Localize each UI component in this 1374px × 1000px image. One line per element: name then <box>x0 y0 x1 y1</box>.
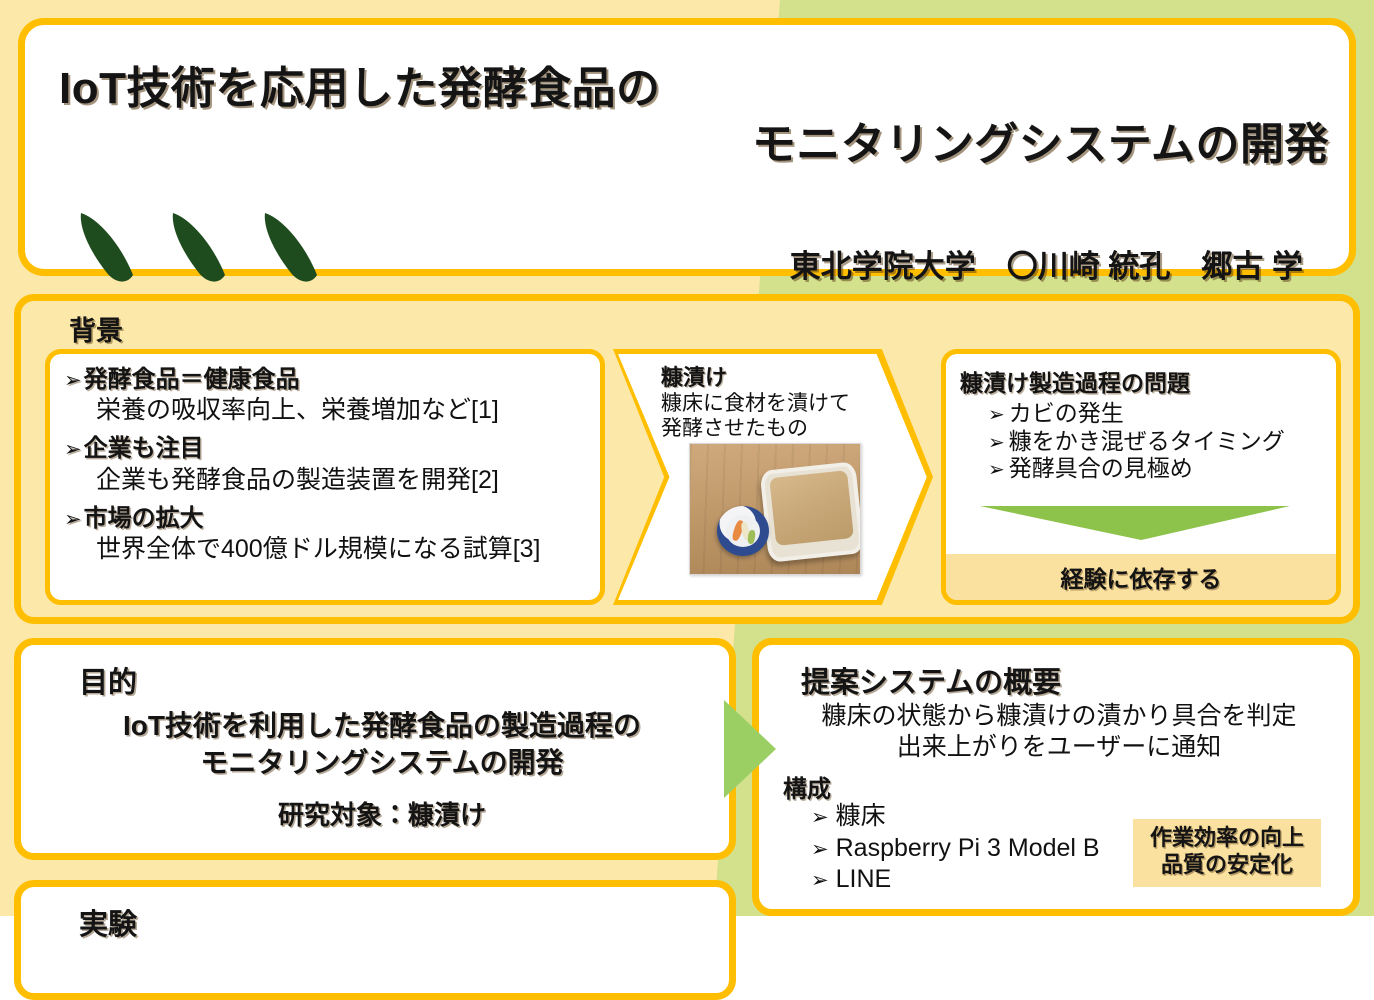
system-overview-section: 提案システムの概要 糠床の状態から糠漬けの漬かり具合を判定 出来上がりをユーザー… <box>752 638 1360 916</box>
chevron-right-icon: ➢ <box>64 438 82 461</box>
effects-badge: 作業効率の向上 品質の安定化 <box>1133 819 1321 887</box>
composition-item-text: LINE <box>836 865 892 893</box>
experiment-label: 実験 <box>79 901 137 943</box>
page-title: IoT技術を応用した発酵食品の モニタリングシステムの開発 <box>59 61 1329 174</box>
chevron-right-icon: ➢ <box>988 404 1005 426</box>
aim-line1: IoT技術を利用した発酵食品の製造過程の <box>39 707 725 744</box>
problem-item-text: 糠をかき混ぜるタイミング <box>1009 428 1285 454</box>
problems-box: 糠漬け製造過程の問題 ➢カビの発生 ➢糠をかき混ぜるタイミング ➢発酵具合の見極… <box>941 349 1341 605</box>
chevron-right-icon: ➢ <box>64 508 82 531</box>
problem-item: ➢発酵具合の見極め <box>988 455 1336 483</box>
bullet-sub: 世界全体で400億ドル規模になる試算[3] <box>64 534 586 564</box>
authors-line: 東北学院大学 〇川崎 統孔 郷古 学 <box>790 241 1303 286</box>
page-title-line1: IoT技術を応用した発酵食品の <box>59 61 1329 117</box>
bullet-head-text: 市場の拡大 <box>84 505 204 532</box>
title-card: IoT技術を応用した発酵食品の モニタリングシステムの開発 東北学院大学 〇川崎… <box>18 18 1356 276</box>
problems-conclusion-band: 経験に依存する <box>946 554 1336 600</box>
system-desc-line2: 出来上がりをユーザーに通知 <box>779 732 1339 763</box>
photo-pickle-dish <box>717 506 769 556</box>
background-bullet-item: ➢市場の拡大 世界全体で400億ドル規模になる試算[3] <box>64 505 586 564</box>
bullet-sub: 企業も発酵食品の製造装置を開発[2] <box>64 465 586 495</box>
aim-section: 目的 IoT技術を利用した発酵食品の製造過程の モニタリングシステムの開発 研究… <box>14 638 736 860</box>
composition-item: ➢糠床 <box>811 801 1100 833</box>
arrow-down-icon <box>980 506 1290 540</box>
composition-item: ➢Raspberry Pi 3 Model B <box>811 833 1100 865</box>
background-bullet-item: ➢企業も注目 企業も発酵食品の製造装置を開発[2] <box>64 435 586 494</box>
composition-label: 構成 <box>783 769 831 804</box>
composition-list: ➢糠床 ➢Raspberry Pi 3 Model B ➢LINE <box>811 801 1100 896</box>
composition-item-text: 糠床 <box>836 802 886 830</box>
effect-line1: 作業効率の向上 <box>1137 825 1317 852</box>
aim-line2: モニタリングシステムの開発 <box>39 744 725 781</box>
system-overview-title: 提案システムの概要 <box>801 659 1061 701</box>
chevron-content: 糠漬け 糠床に食材を漬けて 発酵させたもの <box>661 365 891 442</box>
problem-item-text: カビの発生 <box>1009 400 1124 426</box>
background-section: 背景 ➢発酵食品＝健康食品 栄養の吸収率向上、栄養増加など[1] ➢企業も注目 … <box>14 294 1360 624</box>
bullet-head: ➢発酵食品＝健康食品 <box>64 366 586 394</box>
photo-rice-bran <box>769 470 854 546</box>
nukazuke-desc-line1: 糠床に食材を漬けて <box>661 391 891 416</box>
nukazuke-desc-line2: 発酵させたもの <box>661 416 891 441</box>
problem-item: ➢カビの発生 <box>988 400 1336 428</box>
background-section-heading: 背景 <box>69 309 123 348</box>
composition-item: ➢LINE <box>811 864 1100 896</box>
chevron-right-icon: ➢ <box>64 369 82 392</box>
problems-title: 糠漬け製造過程の問題 <box>960 364 1336 398</box>
bullet-head-text: 企業も注目 <box>84 435 204 462</box>
composition-item-text: Raspberry Pi 3 Model B <box>836 834 1100 862</box>
bullet-sub: 栄養の吸収率向上、栄養増加など[1] <box>64 395 586 425</box>
background-bullet-item: ➢発酵食品＝健康食品 栄養の吸収率向上、栄養増加など[1] <box>64 366 586 425</box>
bullet-head-text: 発酵食品＝健康食品 <box>84 366 300 393</box>
background-bullets-box: ➢発酵食品＝健康食品 栄養の吸収率向上、栄養増加など[1] ➢企業も注目 企業も… <box>45 349 605 605</box>
chevron-right-icon: ➢ <box>811 869 829 892</box>
cucumber-icon <box>61 203 351 293</box>
aim-label: 目的 <box>79 659 137 701</box>
chevron-right-icon: ➢ <box>988 459 1005 481</box>
system-desc-line1: 糠床の状態から糠漬けの漬かり具合を判定 <box>779 701 1339 732</box>
chevron-right-icon: ➢ <box>811 806 829 829</box>
aim-body: IoT技術を利用した発酵食品の製造過程の モニタリングシステムの開発 研究対象：… <box>39 707 725 832</box>
page-title-line2: モニタリングシステムの開発 <box>59 117 1329 173</box>
photo-container <box>759 461 861 563</box>
problem-item: ➢糠をかき混ぜるタイミング <box>988 428 1336 456</box>
problems-conclusion-text: 経験に依存する <box>1061 560 1222 594</box>
chevron-right-icon: ➢ <box>988 432 1005 454</box>
nukazuke-chevron-box: 糠漬け 糠床に食材を漬けて 発酵させたもの <box>613 349 933 605</box>
effect-line2: 品質の安定化 <box>1137 852 1317 879</box>
bullet-head: ➢市場の拡大 <box>64 505 586 533</box>
chevron-right-icon: ➢ <box>811 838 829 861</box>
aim-target: 研究対象：糠漬け <box>39 795 725 832</box>
problem-item-text: 発酵具合の見極め <box>1009 455 1193 481</box>
bullet-head: ➢企業も注目 <box>64 435 586 463</box>
experiment-section: 実験 <box>14 880 736 1000</box>
nukadoko-photo <box>689 443 861 575</box>
nukazuke-title: 糠漬け <box>661 365 891 390</box>
